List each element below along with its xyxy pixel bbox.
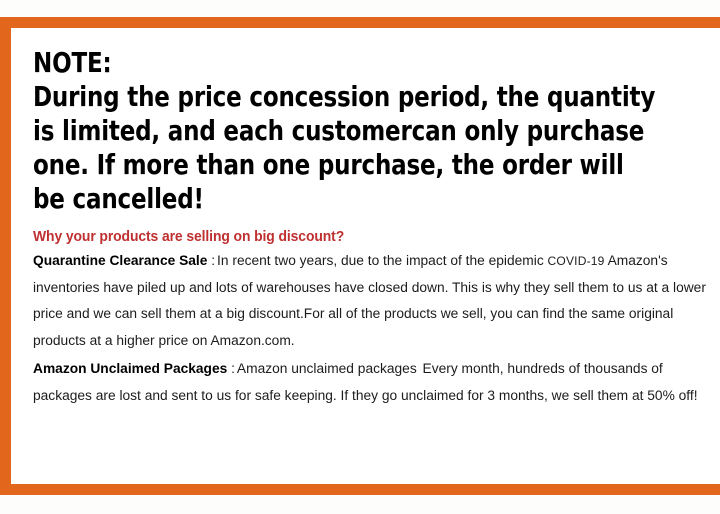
quarantine-clearance-label: Quarantine Clearance Sale (33, 253, 207, 269)
unclaimed-packages-colon: : (227, 361, 237, 377)
quarantine-clearance-paragraph: Quarantine Clearance Sale:In recent two … (33, 248, 720, 354)
covid-term: COVID-19 (548, 254, 605, 268)
notice-content-panel: NOTE: During the price concession period… (11, 28, 720, 484)
quarantine-clearance-text-before-covid: In recent two years, due to the impact o… (217, 253, 544, 269)
unclaimed-packages-paragraph: Amazon Unclaimed Packages:Amazon unclaim… (33, 356, 720, 409)
unclaimed-packages-lead-text: Amazon unclaimed packages (237, 361, 417, 377)
notice-banner: NOTE: During the price concession period… (0, 17, 720, 495)
notice-headline: NOTE: During the price concession period… (33, 46, 672, 216)
quarantine-clearance-colon: : (207, 253, 217, 269)
unclaimed-packages-label: Amazon Unclaimed Packages (33, 361, 227, 377)
discount-question-subheading: Why your products are selling on big dis… (33, 228, 693, 246)
